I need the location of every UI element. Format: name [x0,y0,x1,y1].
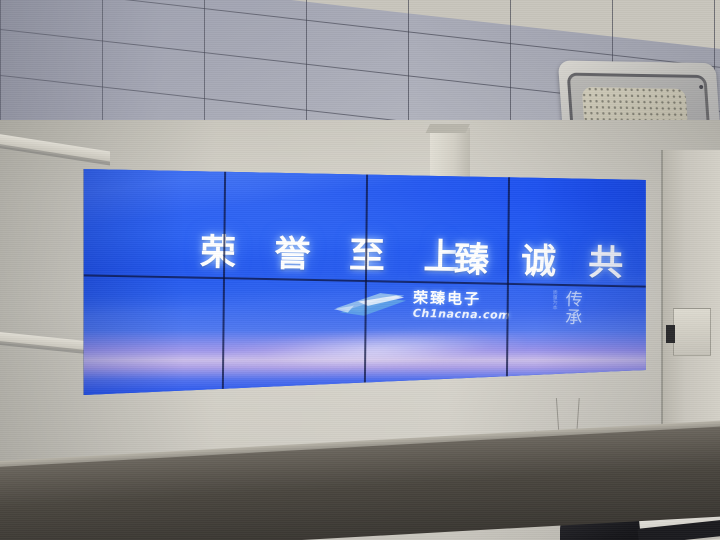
wall-sensor [666,325,675,343]
lcd-video-wall[interactable]: 荣 誉 至 上 臻 诚 共 赢 荣臻电子 Ch1nacna.com [82,150,648,400]
room-scene: 荣 誉 至 上 臻 诚 共 赢 荣臻电子 Ch1nacna.com [0,0,720,540]
wall-mounted-junction-box [673,308,711,356]
